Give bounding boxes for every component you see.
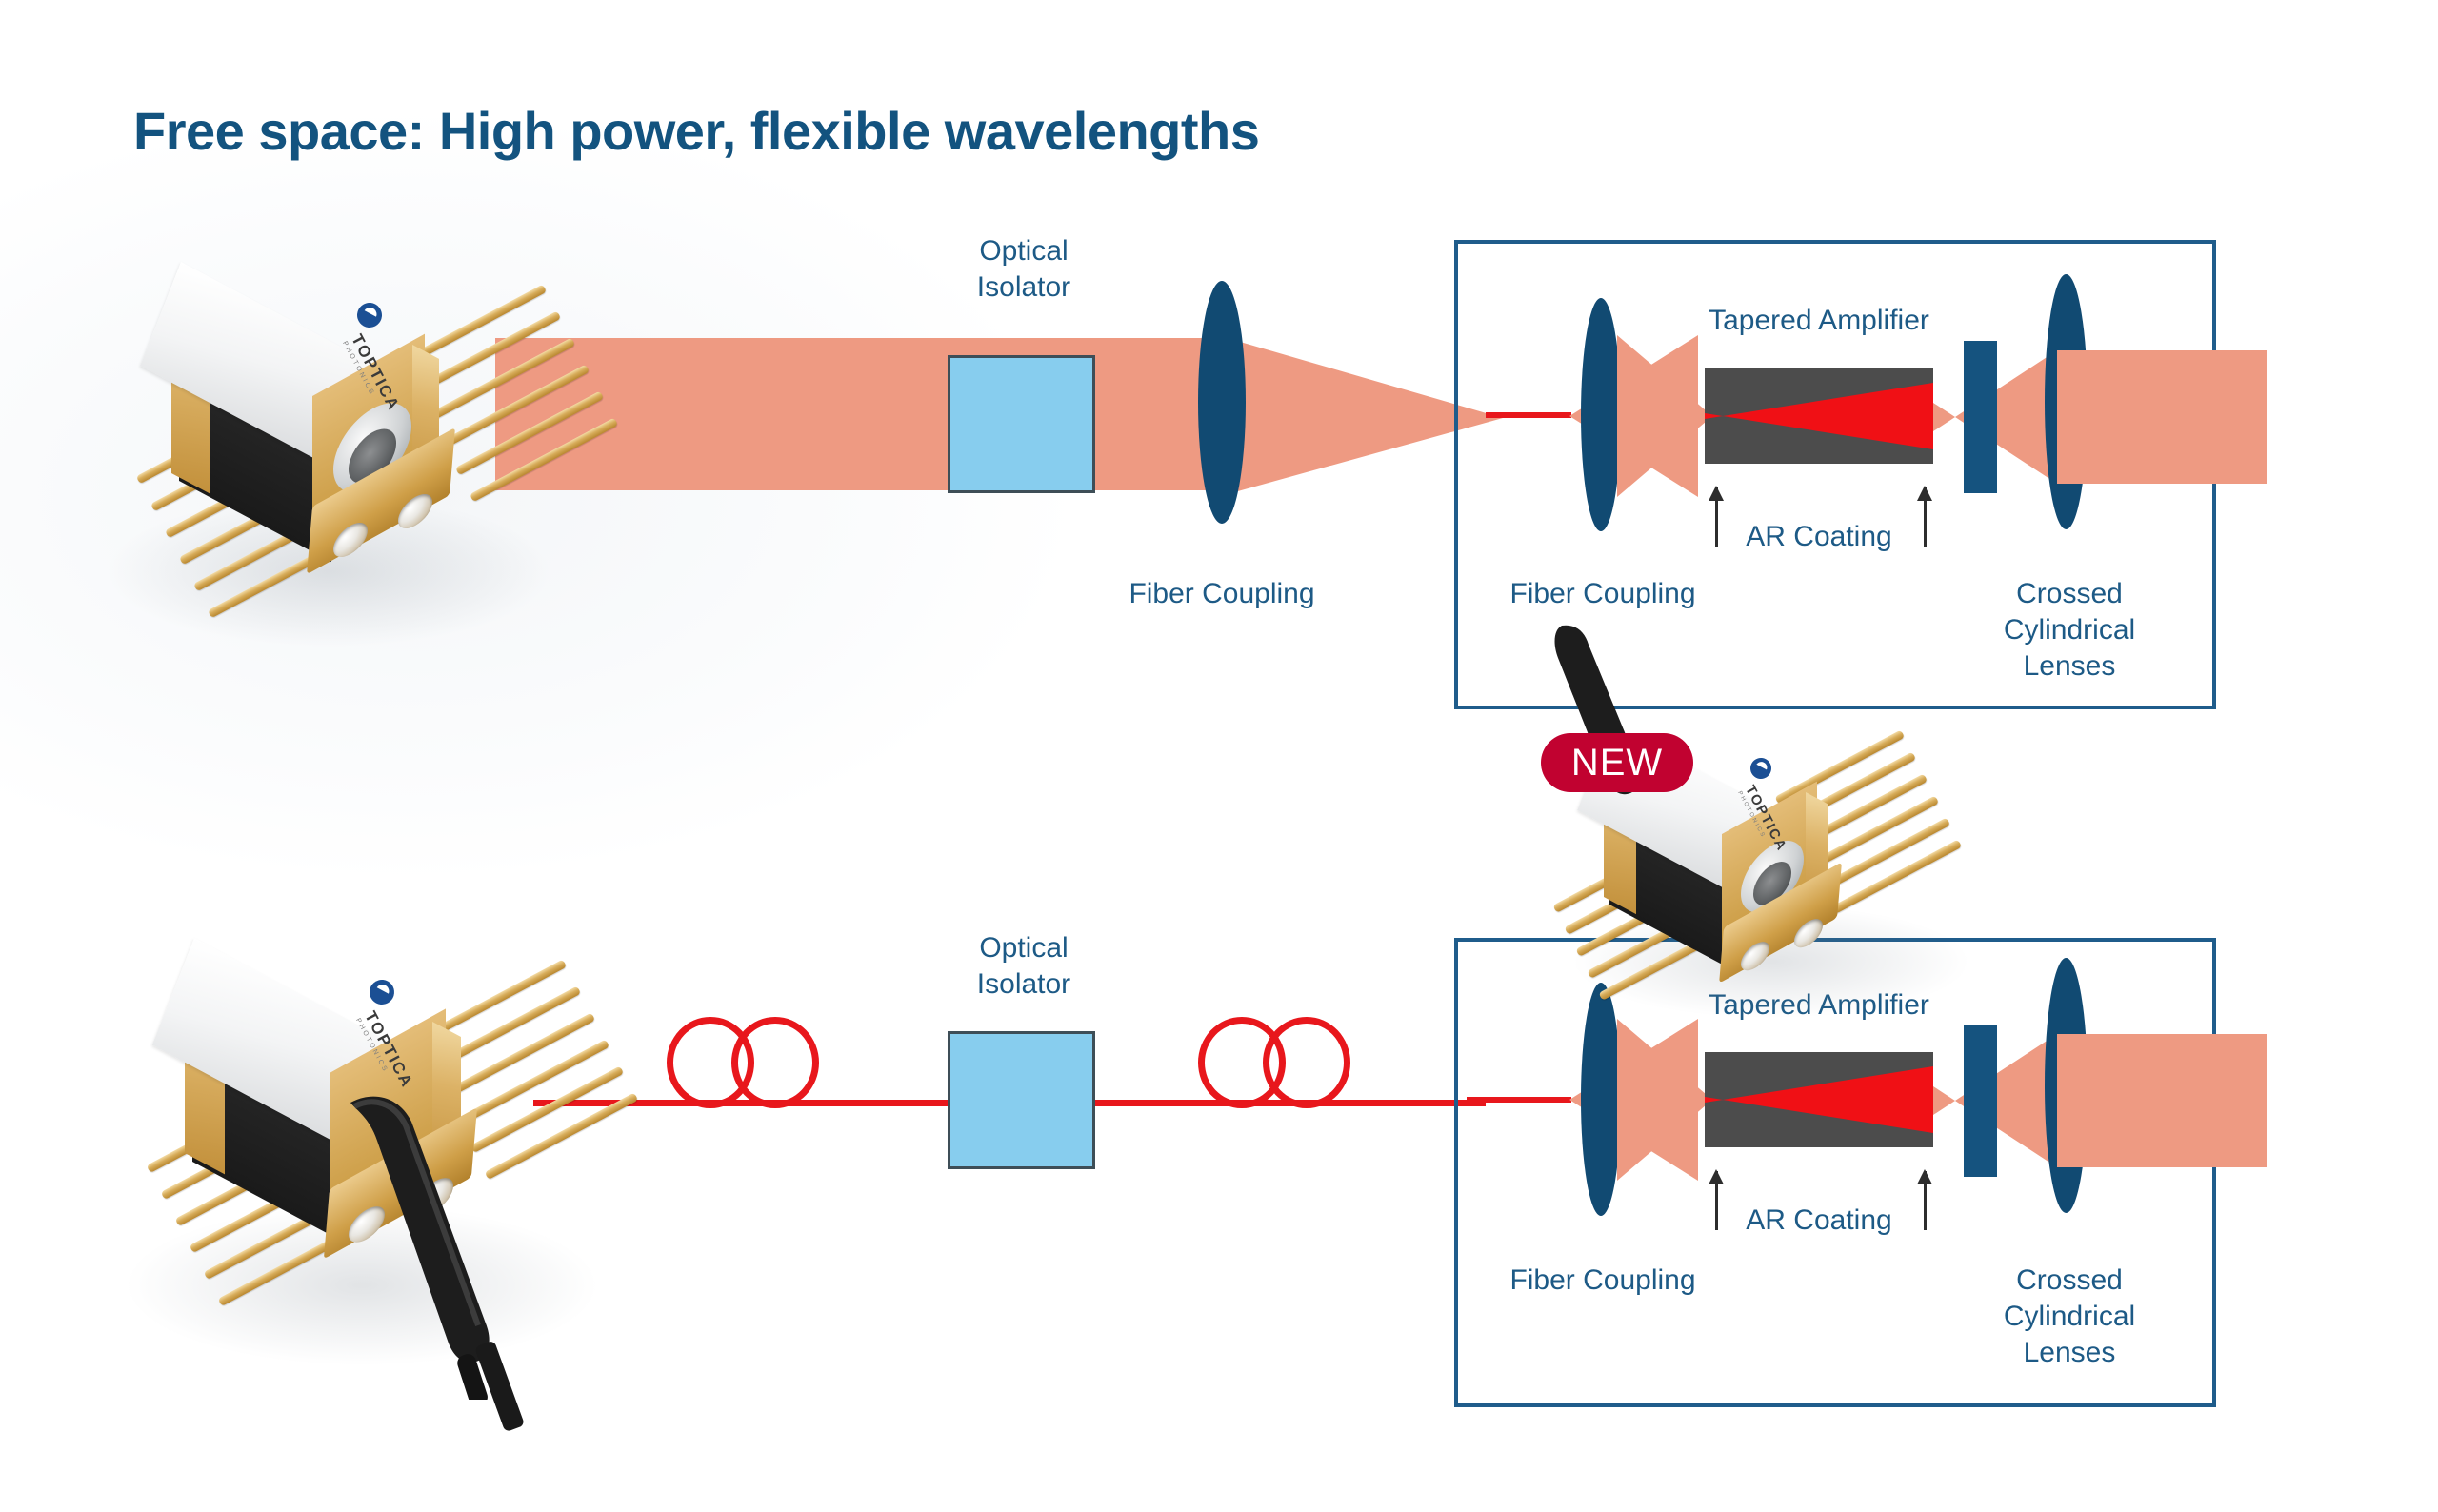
optical-isolator-label-row1: Optical Isolator — [938, 233, 1109, 306]
cylindrical-lens-rect-row1 — [1964, 341, 1997, 493]
ar-coating-label-row1: AR Coating — [1676, 519, 1962, 555]
new-badge: NEW — [1541, 733, 1693, 792]
toptica-logo-icon-new — [1747, 754, 1775, 783]
beam-converging-row1-inner — [1617, 335, 1712, 497]
new-badge-label: NEW — [1571, 742, 1663, 785]
optical-isolator-row1 — [948, 355, 1095, 493]
beam-collimated-row1 — [495, 338, 1219, 490]
toptica-logo-icon-row1 — [352, 298, 386, 331]
beam-output-row1 — [2057, 350, 2267, 484]
fiber-coupling-lens-row2 — [1581, 983, 1621, 1216]
crossed-cylindrical-lenses-label-row1: Crossed Cylindrical Lenses — [1950, 576, 2188, 685]
crossed-cylindrical-lenses-label-row2: Crossed Cylindrical Lenses — [1950, 1263, 2188, 1371]
cylindrical-lens-rect-row2 — [1964, 1025, 1997, 1177]
fiber-coupling-lens-row1-inner — [1581, 298, 1621, 531]
ar-coating-label-row2: AR Coating — [1676, 1203, 1962, 1239]
optical-isolator-row2 — [948, 1031, 1095, 1169]
fiber-coupling-label-row2: Fiber Coupling — [1474, 1263, 1731, 1299]
fiber-loop-row2-a2 — [731, 1017, 819, 1108]
fiber-pigtail-boot — [343, 1085, 562, 1400]
diagram-canvas: Free space: High power, flexible wavelen… — [0, 0, 2438, 1512]
fiber-loop-row2-b2 — [1263, 1017, 1350, 1108]
toptica-logo-icon-row2 — [365, 975, 398, 1008]
ta-gain-region-row2 — [1705, 1052, 1933, 1147]
beam-converging-row2 — [1617, 1019, 1712, 1181]
fiber-coupling-label-row1-inner: Fiber Coupling — [1474, 576, 1731, 612]
page-title: Free space: High power, flexible wavelen… — [133, 100, 1259, 162]
tapered-amplifier-label-row1: Tapered Amplifier — [1676, 303, 1962, 339]
laser-diode-fiber-pigtailed: TOPTICA PHOTONICS — [162, 938, 609, 1385]
ta-gain-region-row1 — [1705, 368, 1933, 464]
optical-isolator-label-row2: Optical Isolator — [938, 930, 1109, 1003]
beam-output-row2 — [2057, 1034, 2267, 1167]
fiber-coupling-label-row1-outer: Fiber Coupling — [1093, 576, 1350, 612]
beam-focus-line-row2 — [1467, 1097, 1571, 1103]
laser-diode-free-space: TOPTICA PHOTONICS — [143, 257, 562, 638]
fiber-coupling-lens-row1 — [1198, 281, 1246, 524]
